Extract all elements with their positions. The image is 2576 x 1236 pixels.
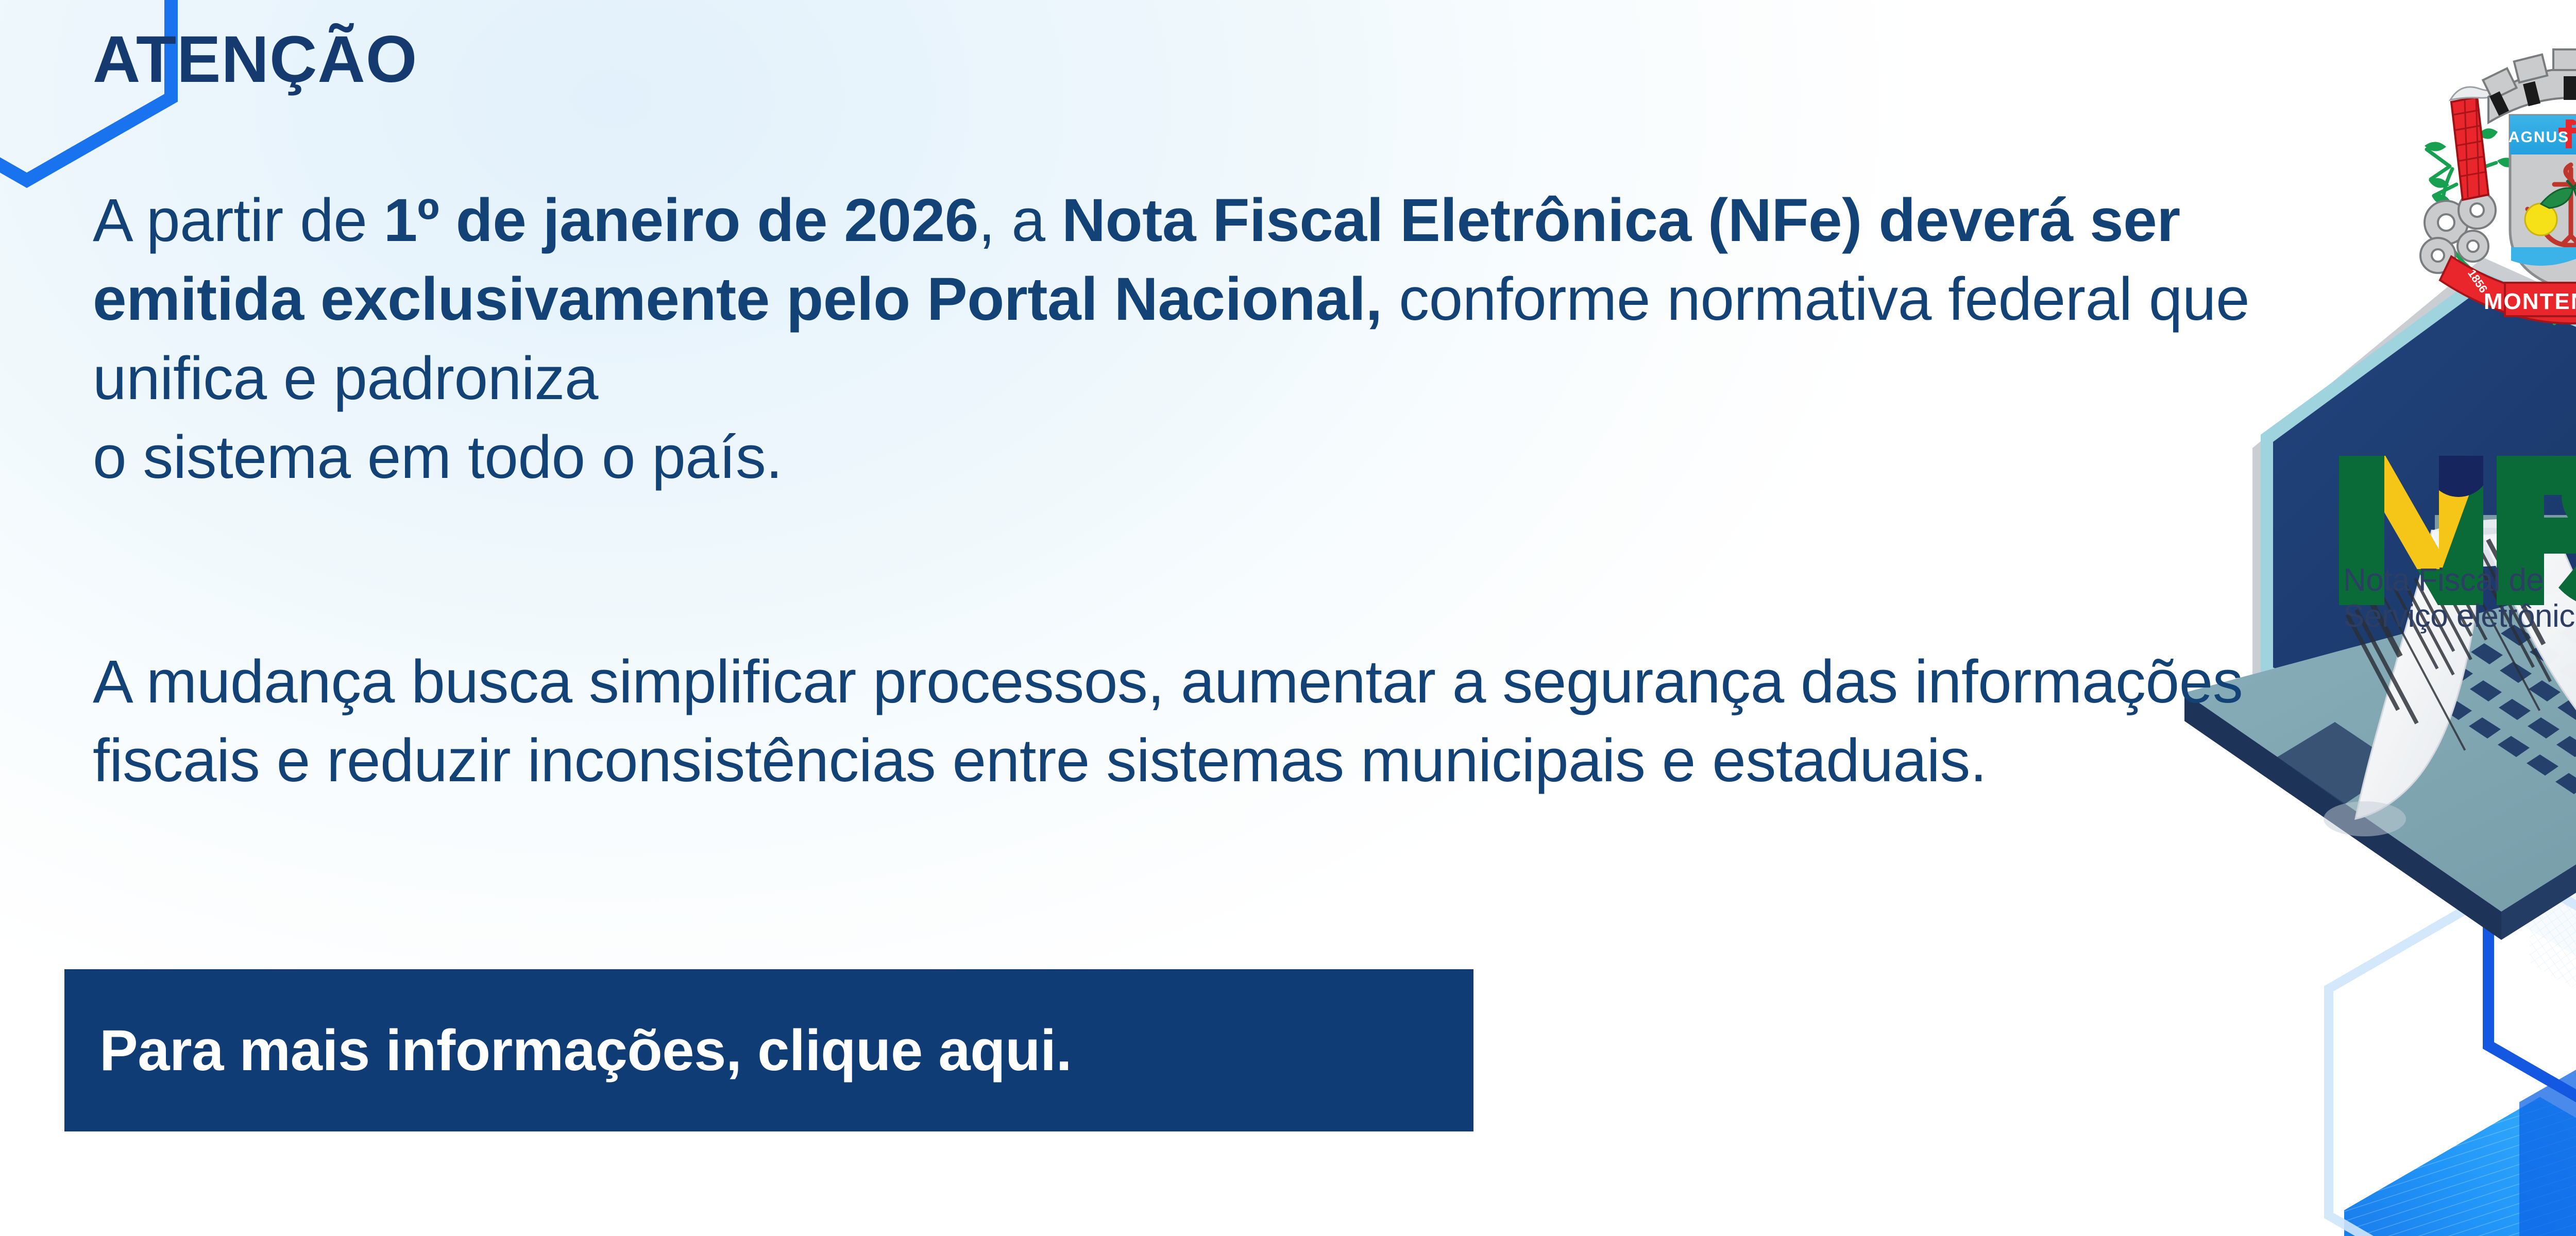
nfse-subtitle: Nota Fiscal de Serviço eletrônica	[2343, 562, 2576, 634]
paragraph-one: A partir de 1º de janeiro de 2026, a Not…	[93, 181, 2257, 497]
coat-of-arms-icon: AGNUS DEI MONTENEGRO 1856 1873	[2391, 14, 2576, 334]
page-title: ATENÇÃO	[93, 27, 417, 93]
paragraph-one-bold-date: 1º de janeiro de 2026	[384, 186, 978, 254]
paragraph-one-mid: , a	[978, 186, 1062, 254]
more-info-button-label: Para mais informações, clique aqui.	[99, 1022, 1072, 1079]
paragraph-two: A mudança busca simplificar processos, a…	[93, 643, 2257, 801]
paragraph-one-lead: A partir de	[93, 186, 384, 254]
brasao-city-ribbon: MONTENEGRO	[2484, 289, 2576, 314]
brasao-motto-left: AGNUS	[2509, 129, 2569, 146]
nfse-announcement-banner: AGNUS DEI MONTENEGRO 1856 1873	[0, 0, 2576, 1236]
more-info-button[interactable]: Para mais informações, clique aqui.	[64, 969, 1473, 1131]
